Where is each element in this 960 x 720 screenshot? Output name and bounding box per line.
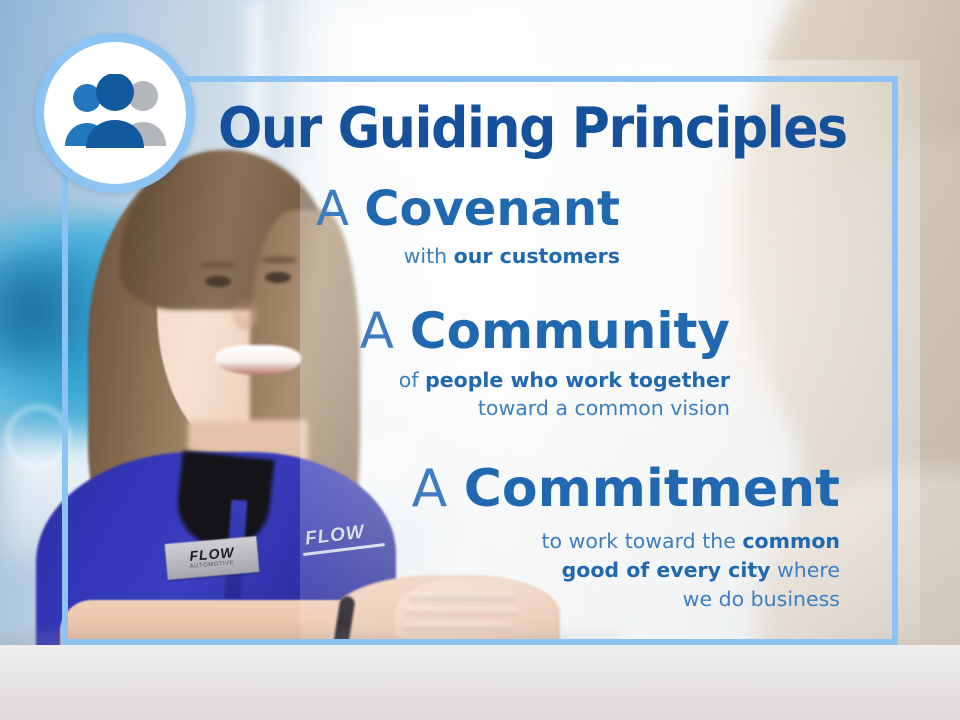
principle-keyword: Community [410, 302, 730, 360]
people-group-icon [35, 33, 195, 193]
subtext-plain: of [399, 368, 425, 392]
principle-article: A [316, 181, 349, 237]
principle-heading: A Community [120, 304, 730, 358]
subtext-line-3: we do business [120, 585, 840, 614]
subtext-plain: with [404, 244, 454, 268]
principle-commitment: A Commitment to work toward the common g… [120, 461, 882, 614]
principle-heading: A Covenant [120, 184, 620, 236]
subtext-plain-2: where [771, 558, 840, 582]
principle-subtext: of people who work together toward a com… [120, 366, 730, 423]
principle-keyword: Covenant [364, 181, 620, 237]
subtext-bold: common [742, 529, 840, 553]
subtext-line-2: good of every city where [120, 556, 840, 585]
finger-3 [402, 622, 514, 631]
principle-community: A Community of people who work together … [120, 304, 882, 423]
page-title: Our Guiding Principles [218, 96, 847, 161]
desk-surface [0, 645, 960, 720]
principle-article: A [360, 302, 394, 360]
principle-keyword: Commitment [464, 459, 840, 519]
blurred-car-shadow [0, 250, 90, 370]
subtext-line-1: to work toward the common [120, 527, 840, 556]
subtext-plain: to work toward the [541, 529, 742, 553]
principle-subtext: to work toward the common good of every … [120, 527, 840, 614]
principle-article: A [412, 459, 448, 519]
subtext-line-2: toward a common vision [120, 394, 730, 422]
principles-list: A Covenant with our customers A Communit… [120, 184, 882, 616]
principle-covenant: A Covenant with our customers [120, 184, 882, 270]
principle-subtext: with our customers [120, 242, 620, 270]
subtext-bold-2: good of every city [562, 558, 771, 582]
subtext-bold: our customers [454, 244, 620, 268]
banner-stage: FLOW AUTOMOTIVE FLOW Our Guiding [0, 0, 960, 720]
principle-heading: A Commitment [120, 461, 840, 517]
subtext-line-1: of people who work together [120, 366, 730, 394]
subtext-bold: people who work together [425, 368, 730, 392]
